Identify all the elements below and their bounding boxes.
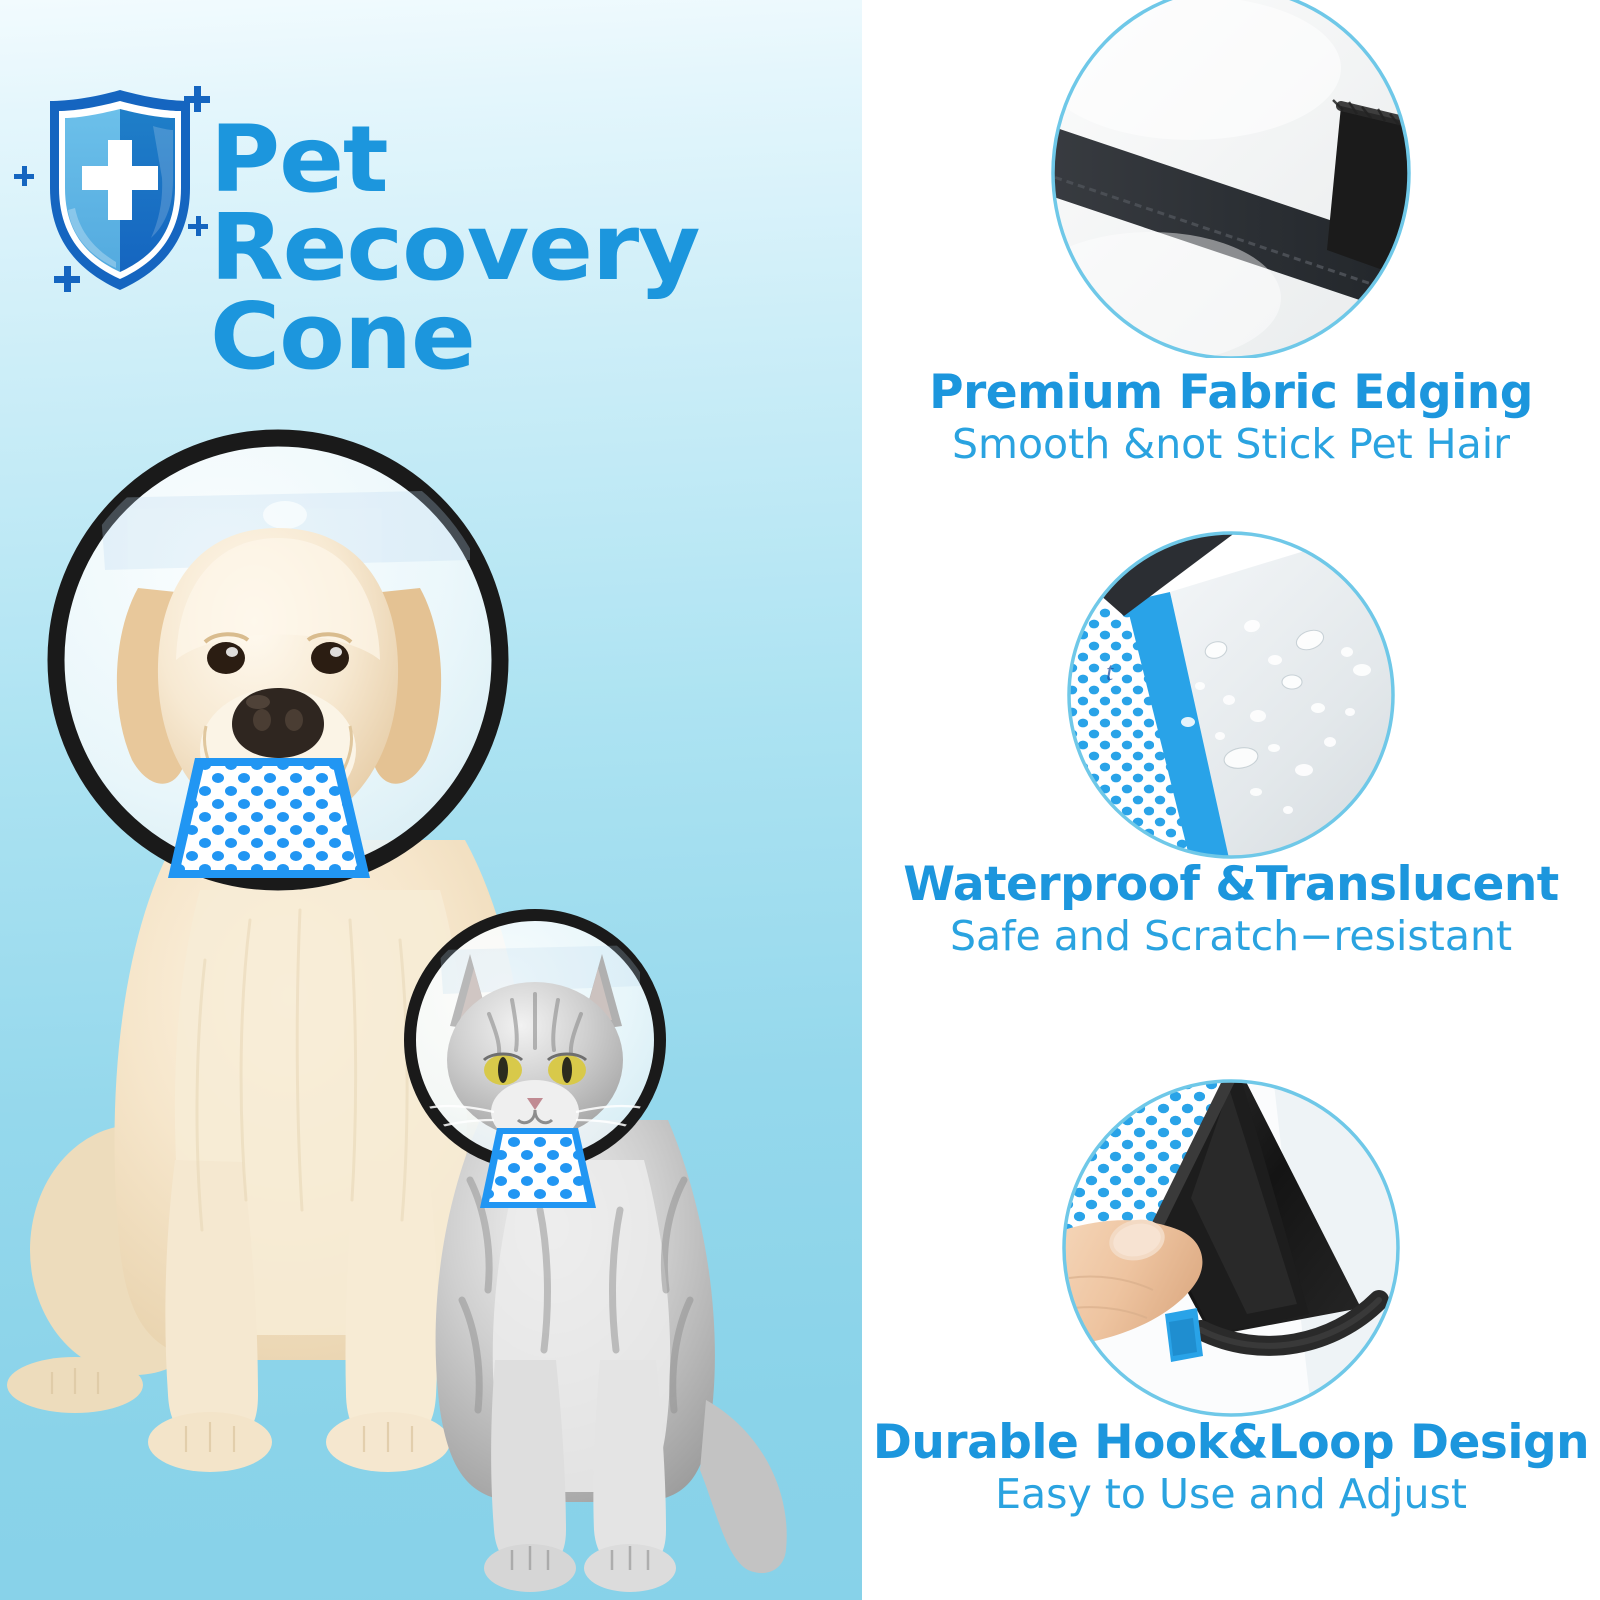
feature-photo-1 (1041, 0, 1421, 358)
water-droplets-on-translucent-cone: t (1066, 530, 1396, 860)
pets-photo (0, 420, 862, 1600)
sparkle-cross-icon (14, 166, 34, 186)
feature-subtitle: Smooth &not Stick Pet Hair (862, 421, 1600, 468)
feature-caption-1: Premium Fabric Edging Smooth &not Stick … (862, 368, 1600, 468)
brand-logo (20, 68, 220, 303)
page-title: Pet Recovery Cone (210, 116, 862, 381)
dog-cone (56, 438, 500, 882)
feature-card-1: Premium Fabric Edging Smooth &not Stick … (862, 0, 1600, 468)
feature-title: Durable Hook&Loop Design (862, 1418, 1600, 1467)
cat-cone-dotted-panel (480, 1128, 596, 1208)
title-line-1: Pet Recovery (210, 106, 700, 301)
title-line-2: Cone (210, 293, 862, 381)
hand-holding-hook-and-loop-strap (1061, 1078, 1401, 1418)
features-panel: Premium Fabric Edging Smooth &not Stick … (862, 0, 1600, 1600)
svg-text:t: t (1106, 657, 1114, 686)
feature-card-3: Durable Hook&Loop Design Easy to Use and… (862, 1078, 1600, 1518)
feature-caption-3: Durable Hook&Loop Design Easy to Use and… (862, 1418, 1600, 1518)
sparkle-cross-icon (54, 266, 80, 292)
feature-title: Waterproof &Translucent (862, 860, 1600, 909)
cone-fabric-edging-closeup (1041, 0, 1421, 358)
feature-photo-2: t (1066, 530, 1396, 860)
feature-card-2: t Waterproof &Translucent Safe and Scrat… (862, 530, 1600, 960)
feature-photo-3 (1061, 1078, 1401, 1418)
feature-caption-2: Waterproof &Translucent Safe and Scratch… (862, 860, 1600, 960)
feature-title: Premium Fabric Edging (862, 368, 1600, 417)
dog-and-cat-with-cones (0, 420, 862, 1600)
cone-dotted-panel (168, 758, 370, 878)
sparkle-cross-icon (184, 86, 210, 112)
sparkle-cross-icon (188, 216, 208, 236)
feature-subtitle: Safe and Scratch−resistant (862, 913, 1600, 960)
feature-subtitle: Easy to Use and Adjust (862, 1471, 1600, 1518)
infographic-canvas: Pet Recovery Cone (0, 0, 1600, 1600)
hero-panel: Pet Recovery Cone (0, 0, 862, 1600)
